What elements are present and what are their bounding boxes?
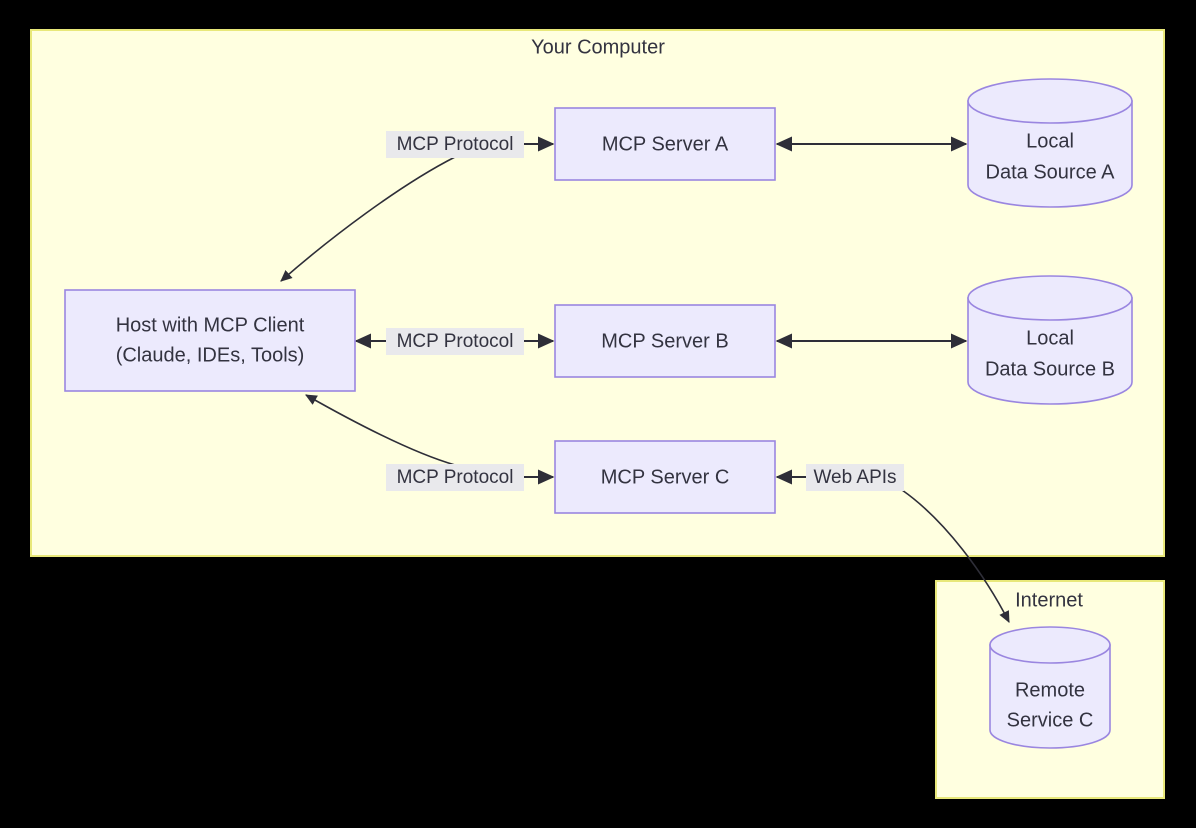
edge-host-to-server-c-label: MCP Protocol (397, 467, 514, 488)
data-source-a-top[interactable] (968, 79, 1132, 123)
data-source-b-label-line2: Data Source B (985, 358, 1115, 380)
data-source-a-label-line2: Data Source A (986, 161, 1116, 183)
node-server-c[interactable]: MCP Server C (555, 441, 775, 513)
mcp-architecture-diagram: Your Computer Internet MCP Protocol MCP … (0, 0, 1196, 828)
data-source-b-label-line1: Local (1026, 327, 1074, 349)
host-box[interactable] (65, 290, 355, 391)
internet-title: Internet (1015, 589, 1083, 611)
node-remote-service-c[interactable]: Remote Service C (990, 627, 1110, 748)
server-c-label: MCP Server C (601, 466, 730, 488)
host-label-line1: Host with MCP Client (116, 314, 305, 336)
host-label-line2: (Claude, IDEs, Tools) (116, 344, 305, 366)
remote-service-c-label-line1: Remote (1015, 679, 1085, 701)
data-source-b-top[interactable] (968, 276, 1132, 320)
server-a-label: MCP Server A (602, 133, 729, 155)
your-computer-title: Your Computer (531, 36, 665, 58)
node-host[interactable]: Host with MCP Client (Claude, IDEs, Tool… (65, 290, 355, 391)
data-source-a-label-line1: Local (1026, 130, 1074, 152)
remote-service-c-label-line2: Service C (1007, 709, 1094, 731)
node-server-a[interactable]: MCP Server A (555, 108, 775, 180)
edge-host-to-server-a-label: MCP Protocol (397, 134, 514, 155)
server-b-label: MCP Server B (601, 330, 728, 352)
remote-service-c-top[interactable] (990, 627, 1110, 663)
edge-host-to-server-b-label: MCP Protocol (397, 331, 514, 352)
node-data-source-a[interactable]: Local Data Source A (968, 79, 1132, 207)
node-data-source-b[interactable]: Local Data Source B (968, 276, 1132, 404)
diagram-canvas: Your Computer Internet MCP Protocol MCP … (0, 0, 1196, 828)
edge-server-c-to-remote-label: Web APIs (813, 467, 896, 488)
node-server-b[interactable]: MCP Server B (555, 305, 775, 377)
